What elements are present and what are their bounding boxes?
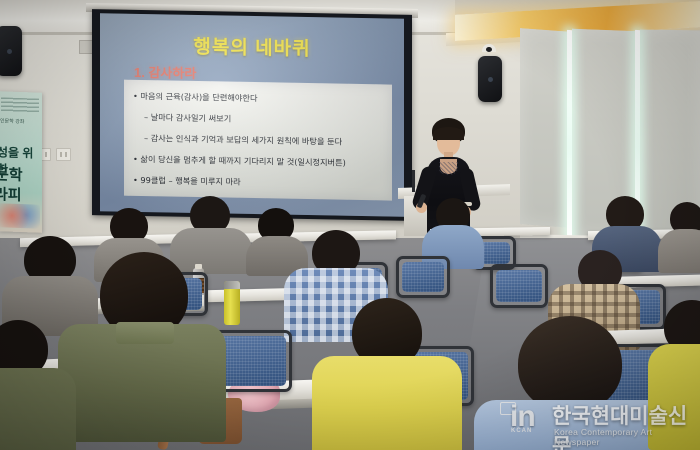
blind-light-gap-1 [567,30,572,244]
torso [0,368,76,450]
banner-header-stripes [1,97,39,112]
wall-outlet-2-icon [56,148,71,161]
banner-small-line: 인문학 강좌 [0,117,24,125]
wall-speaker-left-icon [0,26,22,76]
dome-camera-icon [482,44,496,52]
slide-bullet-4: • 삶이 당신을 멈추게 할 때까지 기다리지 말 것(일시정지버튼) [133,153,346,169]
lecturer-lace-detail [439,162,458,175]
yellow-tumbler [224,281,240,325]
torso [658,229,700,273]
lecturer-fringe [433,127,464,140]
chair-mesh [402,262,444,292]
torso [170,228,252,274]
tumbler-cap [224,281,240,289]
slide-bullet-2: – 날마다 감사일기 써보기 [144,111,231,125]
slide-body-box: • 마음의 근육(감사)을 단련해야한다 – 날마다 감사일기 써보기 – 감사… [124,80,392,201]
wall-speaker-right-icon [478,56,502,102]
slide-bullet-5: • 99클럽 – 행복을 미루지 마라 [133,174,241,188]
bottle-cap [195,264,202,269]
projection-screen-frame: 행복의 네바퀴 1. 감사하라 • 마음의 근육(감사)을 단련해야한다 – 날… [92,9,412,221]
torso [312,356,462,450]
slide-bullet-3: – 감사는 인식과 기억과 보답의 세가지 원칙에 바탕을 둔다 [144,132,342,148]
jacket-collar [116,322,174,344]
chair-back [396,256,450,298]
watermark: in KCAN 한국현대미술신문 Korea Contemporary Art … [508,398,694,444]
slide-bullet-1: • 마음의 근육(감사)을 단련해야한다 [133,90,257,104]
banner-line-2: 문학 [0,163,23,185]
slide-subtitle: 1. 감사하라 [134,62,196,82]
projected-slide: 행복의 네바퀴 1. 감사하라 • 마음의 근육(감사)을 단련해야한다 – 날… [100,13,404,217]
lecture-hall-photo: 인문학 강좌 성을 위한 문학 라피 행복의 네바퀴 1. 감사하라 • 마음의… [0,0,700,450]
banner-line-3: 라피 [0,183,22,205]
chair-row3-c [396,256,450,298]
slide-title: 행복의 네바퀴 [100,30,404,63]
event-banner: 인문학 강좌 성을 위한 문학 라피 [0,91,42,233]
watermark-english: Korea Contemporary Art Newspaper [554,427,694,447]
logo-subtext: KCAN [511,428,532,434]
chair-mesh [496,270,542,302]
blind-panel-1 [520,28,572,228]
banner-artwork [0,203,40,228]
mic-stand [412,170,415,192]
chair-row3-d [490,264,548,308]
chair-back [490,264,548,308]
kcan-logo-icon: in KCAN [508,400,548,438]
